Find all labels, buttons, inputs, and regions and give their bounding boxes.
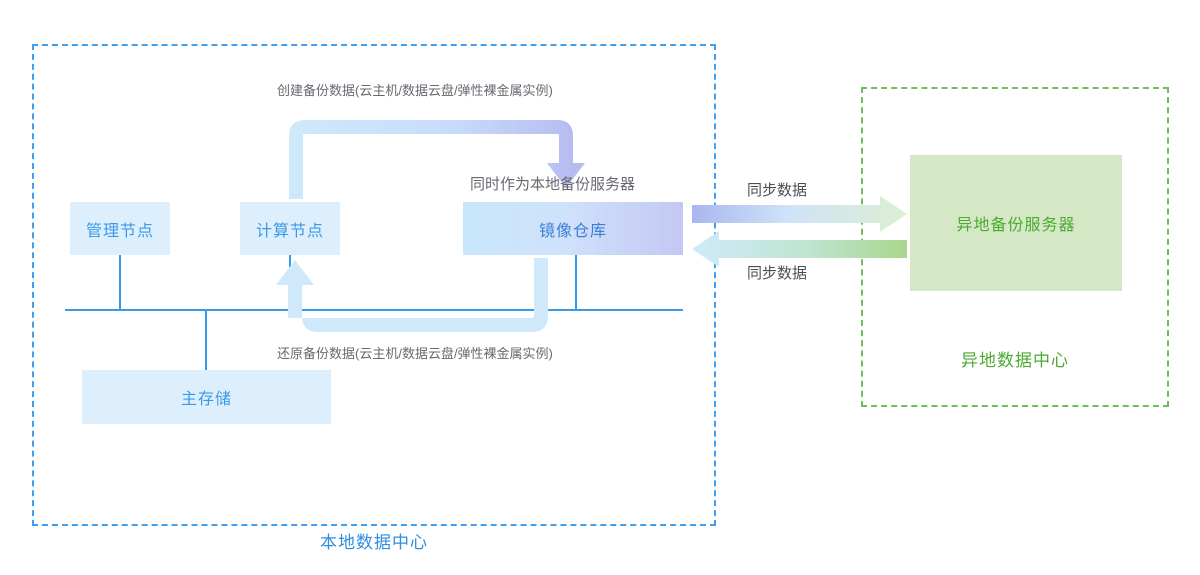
connector-bus-to-storage bbox=[205, 309, 207, 371]
connector-registry-to-bus bbox=[575, 255, 577, 310]
node-compute[interactable]: 计算节点 bbox=[240, 202, 340, 255]
bus-horizontal-line bbox=[65, 309, 683, 311]
region-local-label: 本地数据中心 bbox=[34, 528, 714, 553]
caption-also-local-backup-server: 同时作为本地备份服务器 bbox=[470, 173, 635, 194]
caption-sync-out: 同步数据 bbox=[747, 179, 807, 200]
node-management-label: 管理节点 bbox=[86, 217, 154, 241]
connector-compute-to-bus bbox=[289, 255, 291, 310]
node-primary-storage-label: 主存储 bbox=[181, 385, 232, 409]
region-remote-label: 异地数据中心 bbox=[863, 346, 1167, 371]
caption-sync-in: 同步数据 bbox=[747, 262, 807, 283]
node-remote-backup-server-label: 异地备份服务器 bbox=[956, 211, 1075, 235]
node-image-registry-label: 镜像仓库 bbox=[539, 217, 607, 241]
node-image-registry[interactable]: 镜像仓库 bbox=[463, 202, 683, 255]
node-primary-storage[interactable]: 主存储 bbox=[82, 370, 331, 424]
region-local-data-center: 本地数据中心 bbox=[32, 44, 716, 526]
caption-restore-backup: 还原备份数据(云主机/数据云盘/弹性裸金属实例) bbox=[277, 343, 553, 362]
node-compute-label: 计算节点 bbox=[256, 217, 324, 241]
connector-mgmt-to-bus bbox=[119, 255, 121, 310]
node-management[interactable]: 管理节点 bbox=[70, 202, 170, 255]
caption-create-backup: 创建备份数据(云主机/数据云盘/弹性裸金属实例) bbox=[277, 80, 553, 99]
diagram-canvas: 本地数据中心 异地数据中心 bbox=[0, 0, 1200, 575]
node-remote-backup-server[interactable]: 异地备份服务器 bbox=[910, 155, 1122, 291]
